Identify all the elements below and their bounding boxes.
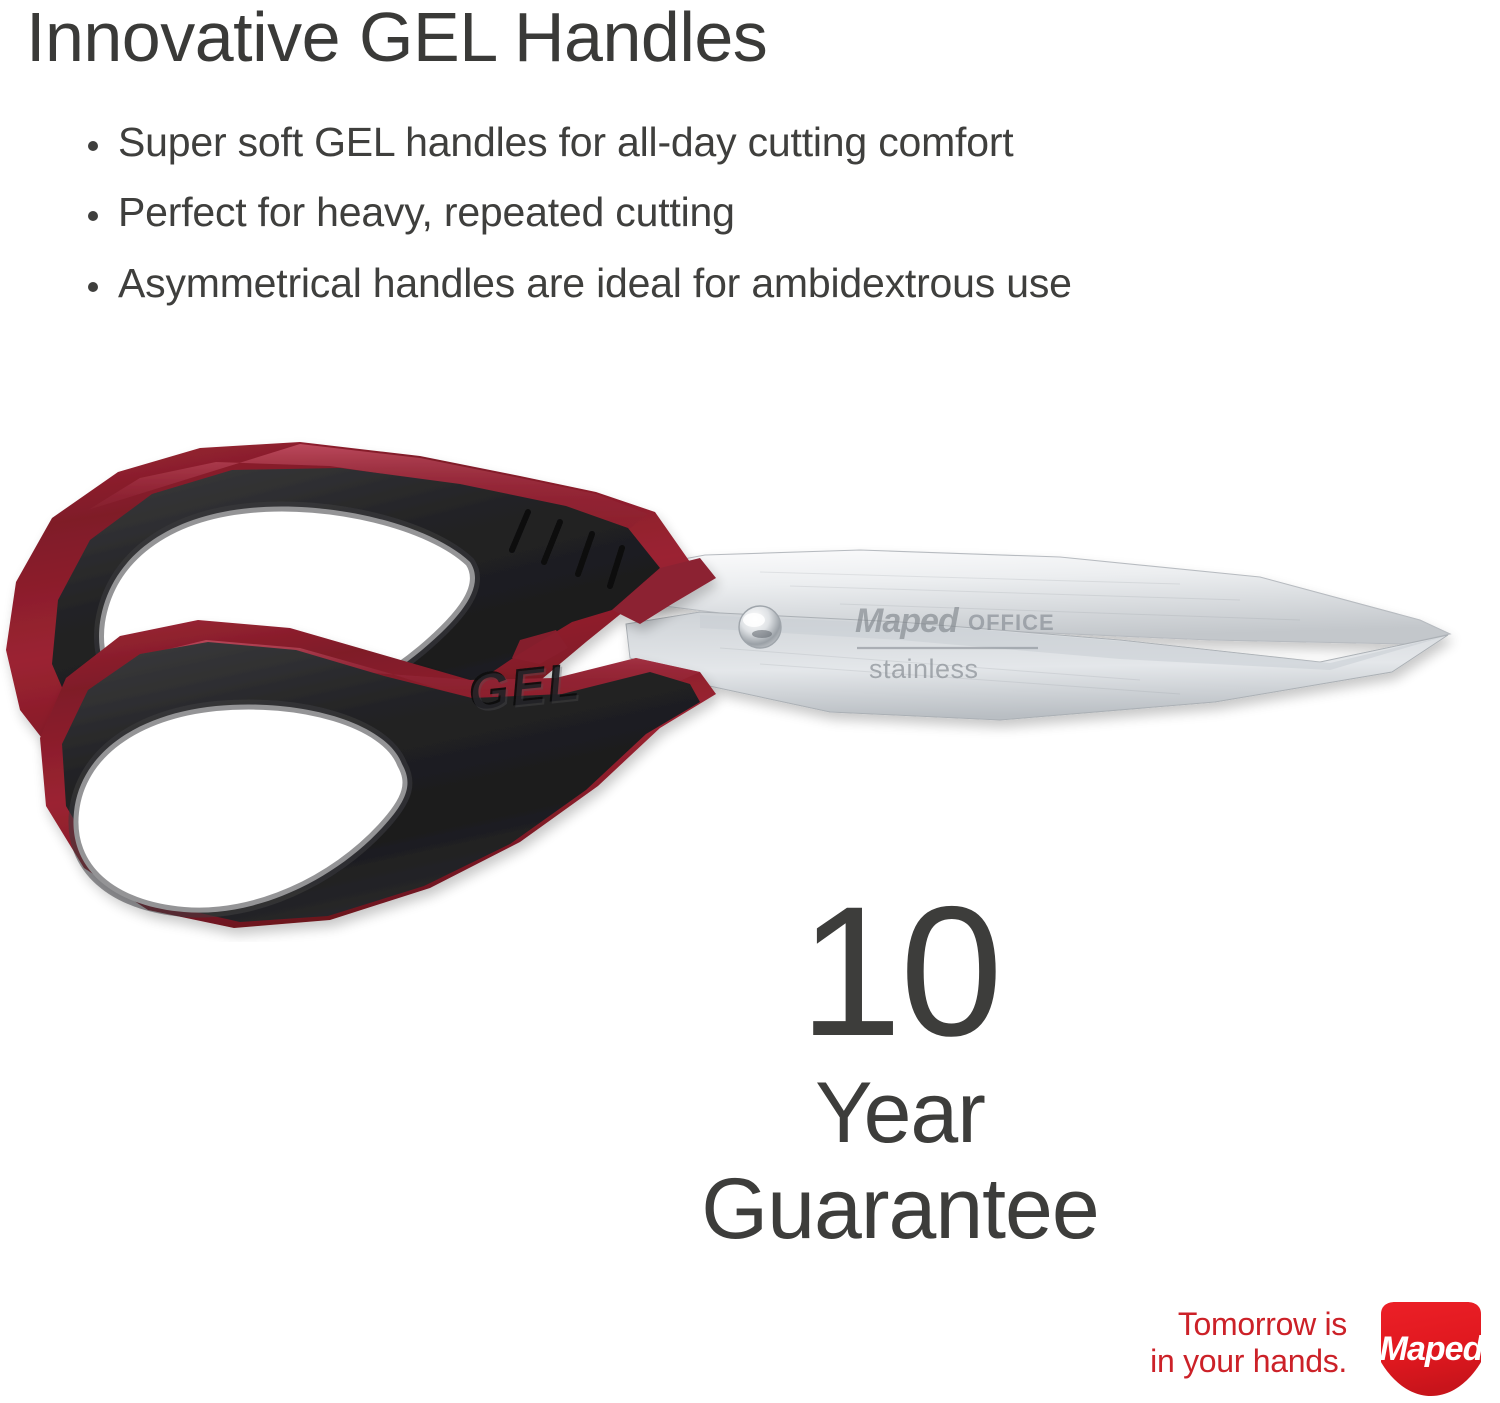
- scissors-lower-handle: GEL GEL: [40, 620, 716, 928]
- brand-tagline: Tomorrow is in your hands.: [1150, 1306, 1347, 1380]
- list-item-label: Super soft GEL handles for all-day cutti…: [118, 118, 1013, 166]
- svg-text:®: ®: [1480, 1334, 1487, 1344]
- brand-tagline-line1: Tomorrow is: [1150, 1306, 1347, 1343]
- brand-tagline-line2: in your hands.: [1150, 1343, 1347, 1380]
- svg-text:GEL: GEL: [467, 654, 585, 723]
- product-feature-image: Innovative GEL Handles Super soft GEL ha…: [0, 0, 1500, 1403]
- maped-logo: Maped ®: [1367, 1300, 1495, 1398]
- bullet-point-icon: [88, 211, 98, 221]
- svg-text:OFFICE: OFFICE: [968, 610, 1055, 635]
- guarantee-unit: Year: [640, 1065, 1160, 1161]
- guarantee-badge: 10 Year Guarantee: [640, 885, 1160, 1257]
- product-photo-scissors: Maped OFFICE stainless: [0, 372, 1500, 942]
- svg-text:stainless: stainless: [869, 654, 979, 684]
- list-item: Super soft GEL handles for all-day cutti…: [88, 118, 1408, 166]
- list-item-label: Asymmetrical handles are ideal for ambid…: [118, 259, 1072, 307]
- guarantee-label: Guarantee: [640, 1161, 1160, 1257]
- bullet-point-icon: [88, 141, 98, 151]
- pivot-rivet: [739, 606, 781, 648]
- guarantee-years: 10: [640, 885, 1160, 1061]
- bullet-point-icon: [88, 282, 98, 292]
- svg-text:Maped: Maped: [1380, 1330, 1485, 1368]
- scissors-illustration: Maped OFFICE stainless: [0, 372, 1500, 942]
- feature-bullet-list: Super soft GEL handles for all-day cutti…: [88, 118, 1408, 329]
- list-item-label: Perfect for heavy, repeated cutting: [118, 188, 735, 236]
- page-title: Innovative GEL Handles: [26, 0, 767, 76]
- list-item: Asymmetrical handles are ideal for ambid…: [88, 259, 1408, 307]
- svg-text:Maped: Maped: [855, 602, 960, 640]
- brand-footer: Tomorrow is in your hands. Maped ®: [1105, 1300, 1495, 1400]
- list-item: Perfect for heavy, repeated cutting: [88, 188, 1408, 236]
